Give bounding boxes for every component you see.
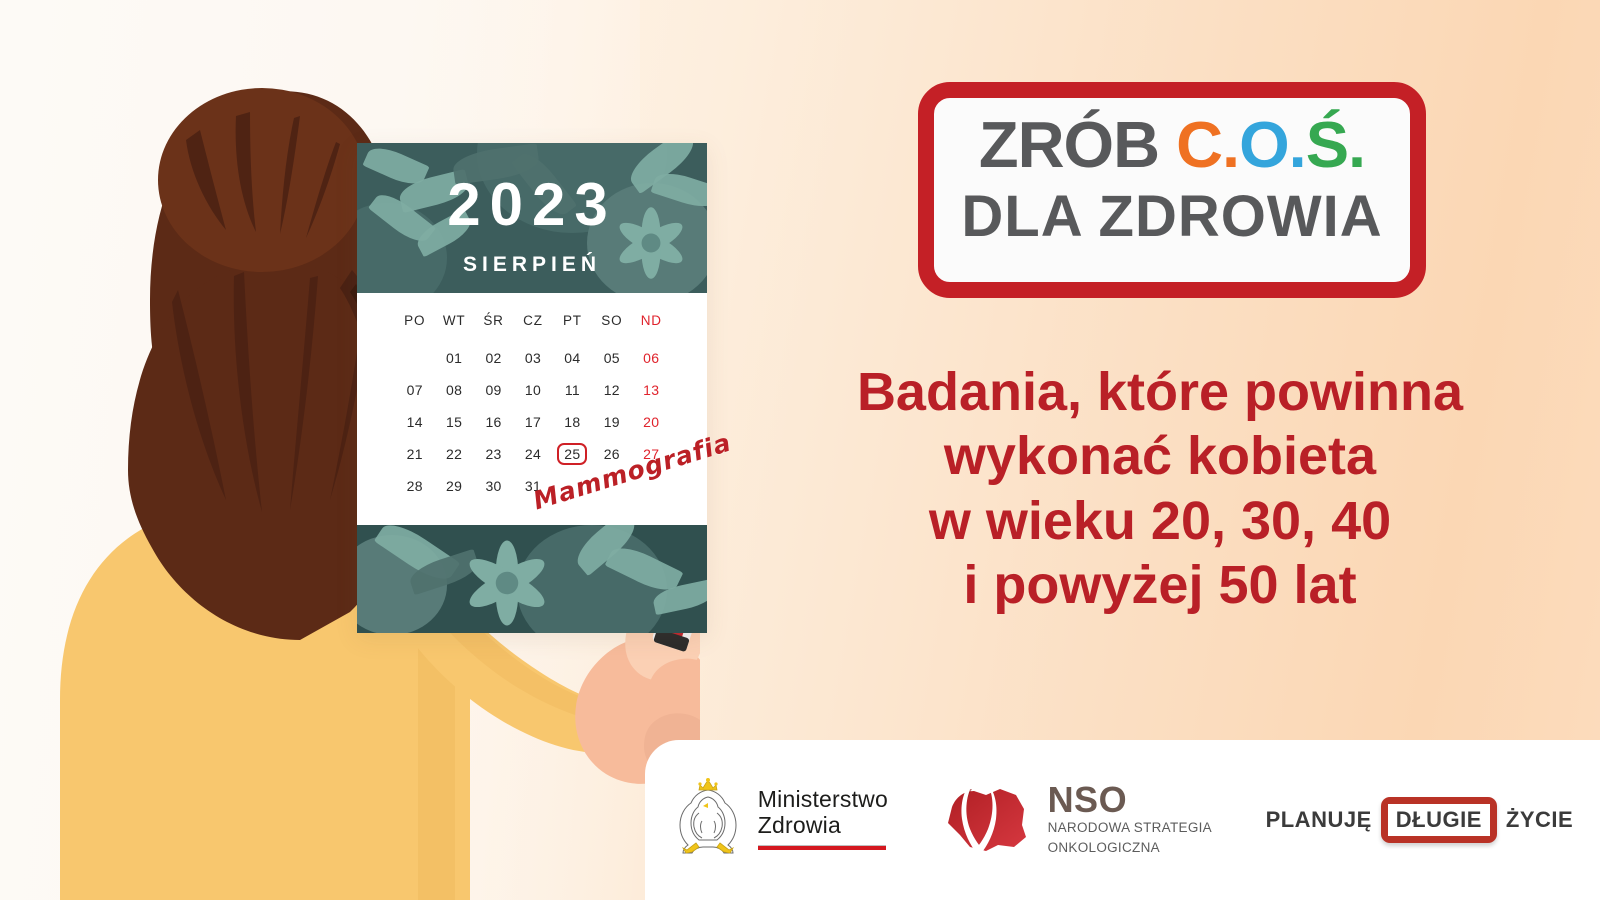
nso-line1: NARODOWA STRATEGIA	[1048, 820, 1212, 837]
day-cell: 24	[513, 438, 552, 470]
marked-day-box: 25	[557, 443, 587, 465]
day-cell: 05	[592, 342, 631, 374]
week-row: 14 15 16 17 18 19 20	[395, 406, 671, 438]
week-row: 01 02 03 04 05 06	[395, 342, 671, 374]
weekday-so: SO	[592, 305, 631, 342]
day-cell: 07	[395, 374, 434, 406]
day-cell: 29	[434, 470, 473, 502]
calendar-header: 2023 SIERPIEŃ	[357, 143, 707, 293]
weekday-sr: ŚR	[474, 305, 513, 342]
weekday-po: PO	[395, 305, 434, 342]
day-cell: 22	[434, 438, 473, 470]
day-cell: 09	[474, 374, 513, 406]
day-cell: 30	[474, 470, 513, 502]
headline-line-4: i powyżej 50 lat	[780, 553, 1540, 617]
headline-line-1: Badania, które powinna	[780, 360, 1540, 424]
day-cell: 06	[632, 342, 671, 374]
day-cell: 15	[434, 406, 473, 438]
day-cell: 19	[592, 406, 631, 438]
calendar-year: 2023	[357, 175, 707, 235]
pdz-word2: DŁUGIE	[1388, 804, 1490, 836]
day-cell: 02	[474, 342, 513, 374]
week-row: 07 08 09 10 11 12 13	[395, 374, 671, 406]
headline: Badania, które powinna wykonać kobieta w…	[780, 360, 1540, 617]
nso-acronym: NSO	[1048, 783, 1212, 817]
ministry-line1: Ministerstwo	[758, 787, 888, 813]
day-cell: 23	[474, 438, 513, 470]
weekday-cz: CZ	[513, 305, 552, 342]
headline-line-3: w wieku 20, 30, 40	[780, 489, 1540, 553]
footer-logos: Ministerstwo Zdrowia	[645, 740, 1600, 900]
calendar-month: SIERPIEŃ	[357, 253, 707, 277]
pdz-word1: PLANUJĘ	[1266, 807, 1372, 833]
poster: 2023 SIERPIEŃ PO WT ŚR CZ PT SO ND 01 02	[0, 0, 1600, 900]
day-cell: 03	[513, 342, 552, 374]
ministry-of-health-logo: Ministerstwo Zdrowia	[672, 777, 888, 863]
day-cell: 10	[513, 374, 552, 406]
ministry-flag-bar	[758, 845, 886, 853]
hair-bun	[158, 88, 366, 272]
weekday-wt: WT	[434, 305, 473, 342]
day-cell: 13	[632, 374, 671, 406]
logo-c: C.	[1176, 108, 1239, 181]
ministry-line2: Zdrowia	[758, 813, 888, 839]
logo-zrob: ZRÓB	[979, 108, 1176, 181]
day-cell: 17	[513, 406, 552, 438]
day-cell: 14	[395, 406, 434, 438]
weekday-pt: PT	[553, 305, 592, 342]
campaign-logo-line2: DLA ZDROWIA	[934, 188, 1410, 246]
polish-eagle-icon	[672, 777, 744, 863]
calendar-footer-decor	[357, 525, 707, 633]
weekday-nd: ND	[632, 305, 671, 342]
pdz-box: DŁUGIE	[1381, 797, 1497, 843]
footer-bar: Ministerstwo Zdrowia	[645, 740, 1600, 900]
campaign-logo-line1: ZRÓB C.O.Ś.	[934, 112, 1410, 177]
ministry-text: Ministerstwo Zdrowia	[758, 787, 888, 854]
pdz-word3: ŻYCIE	[1506, 807, 1573, 833]
campaign-logo: ZRÓB C.O.Ś. DLA ZDROWIA	[918, 82, 1426, 298]
calendar: 2023 SIERPIEŃ PO WT ŚR CZ PT SO ND 01 02	[357, 143, 707, 633]
day-cell: 11	[553, 374, 592, 406]
day-cell: 01	[434, 342, 473, 374]
nso-logo: NSO NARODOWA STRATEGIA ONKOLOGICZNA	[942, 779, 1212, 861]
day-cell	[395, 342, 434, 374]
planuje-dlugie-zycie-logo: PLANUJĘ DŁUGIE ŻYCIE	[1266, 797, 1574, 843]
logo-s: Ś.	[1306, 108, 1365, 181]
nso-text: NSO NARODOWA STRATEGIA ONKOLOGICZNA	[1048, 783, 1212, 857]
logo-o: O.	[1239, 108, 1306, 181]
day-cell: 08	[434, 374, 473, 406]
weekday-row: PO WT ŚR CZ PT SO ND	[395, 305, 671, 342]
day-cell: 21	[395, 438, 434, 470]
poland-map-ribbon-icon	[942, 779, 1034, 861]
nso-line2: ONKOLOGICZNA	[1048, 840, 1212, 857]
headline-line-2: wykonać kobieta	[780, 424, 1540, 488]
day-cell: 28	[395, 470, 434, 502]
day-cell-marked: 25	[553, 438, 592, 470]
day-cell: 04	[553, 342, 592, 374]
day-cell: 20	[632, 406, 671, 438]
day-cell: 16	[474, 406, 513, 438]
day-cell: 18	[553, 406, 592, 438]
day-cell: 12	[592, 374, 631, 406]
